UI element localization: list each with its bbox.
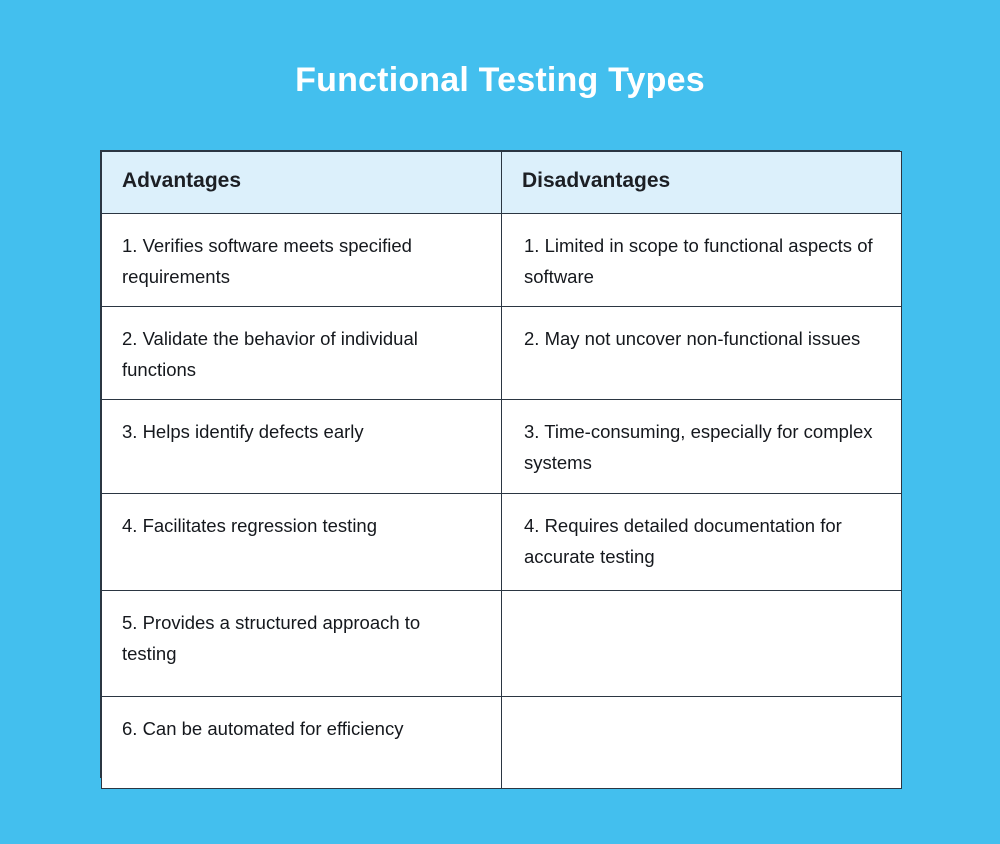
- table-row: 3. Helps identify defects early 3. Time-…: [102, 400, 902, 494]
- cell-advantage-6: 6. Can be automated for efficiency: [102, 697, 502, 789]
- table-row: 6. Can be automated for efficiency: [102, 697, 902, 789]
- cell-disadvantage-4: 4. Requires detailed documentation for a…: [502, 494, 902, 591]
- cell-disadvantage-3: 3. Time-consuming, especially for comple…: [502, 400, 902, 494]
- table-row: 4. Facilitates regression testing 4. Req…: [102, 494, 902, 591]
- cell-disadvantage-1: 1. Limited in scope to functional aspect…: [502, 214, 902, 307]
- column-header-disadvantages: Disadvantages: [502, 152, 902, 214]
- table-row: 2. Validate the behavior of individual f…: [102, 307, 902, 400]
- table-row: 5. Provides a structured approach to tes…: [102, 591, 902, 697]
- cell-advantage-4: 4. Facilitates regression testing: [102, 494, 502, 591]
- table-body: 1. Verifies software meets specified req…: [102, 214, 902, 789]
- comparison-table: Advantages Disadvantages 1. Verifies sof…: [101, 151, 902, 789]
- table-header: Advantages Disadvantages: [102, 152, 902, 214]
- cell-disadvantage-6: [502, 697, 902, 789]
- page-root: Functional Testing Types Advantages Disa…: [0, 0, 1000, 844]
- table-row: 1. Verifies software meets specified req…: [102, 214, 902, 307]
- cell-disadvantage-5: [502, 591, 902, 697]
- cell-disadvantage-2: 2. May not uncover non-functional issues: [502, 307, 902, 400]
- column-header-advantages: Advantages: [102, 152, 502, 214]
- comparison-table-container: Advantages Disadvantages 1. Verifies sof…: [100, 150, 900, 778]
- page-title: Functional Testing Types: [0, 58, 1000, 102]
- cell-advantage-1: 1. Verifies software meets specified req…: [102, 214, 502, 307]
- cell-advantage-3: 3. Helps identify defects early: [102, 400, 502, 494]
- table-header-row: Advantages Disadvantages: [102, 152, 902, 214]
- cell-advantage-5: 5. Provides a structured approach to tes…: [102, 591, 502, 697]
- cell-advantage-2: 2. Validate the behavior of individual f…: [102, 307, 502, 400]
